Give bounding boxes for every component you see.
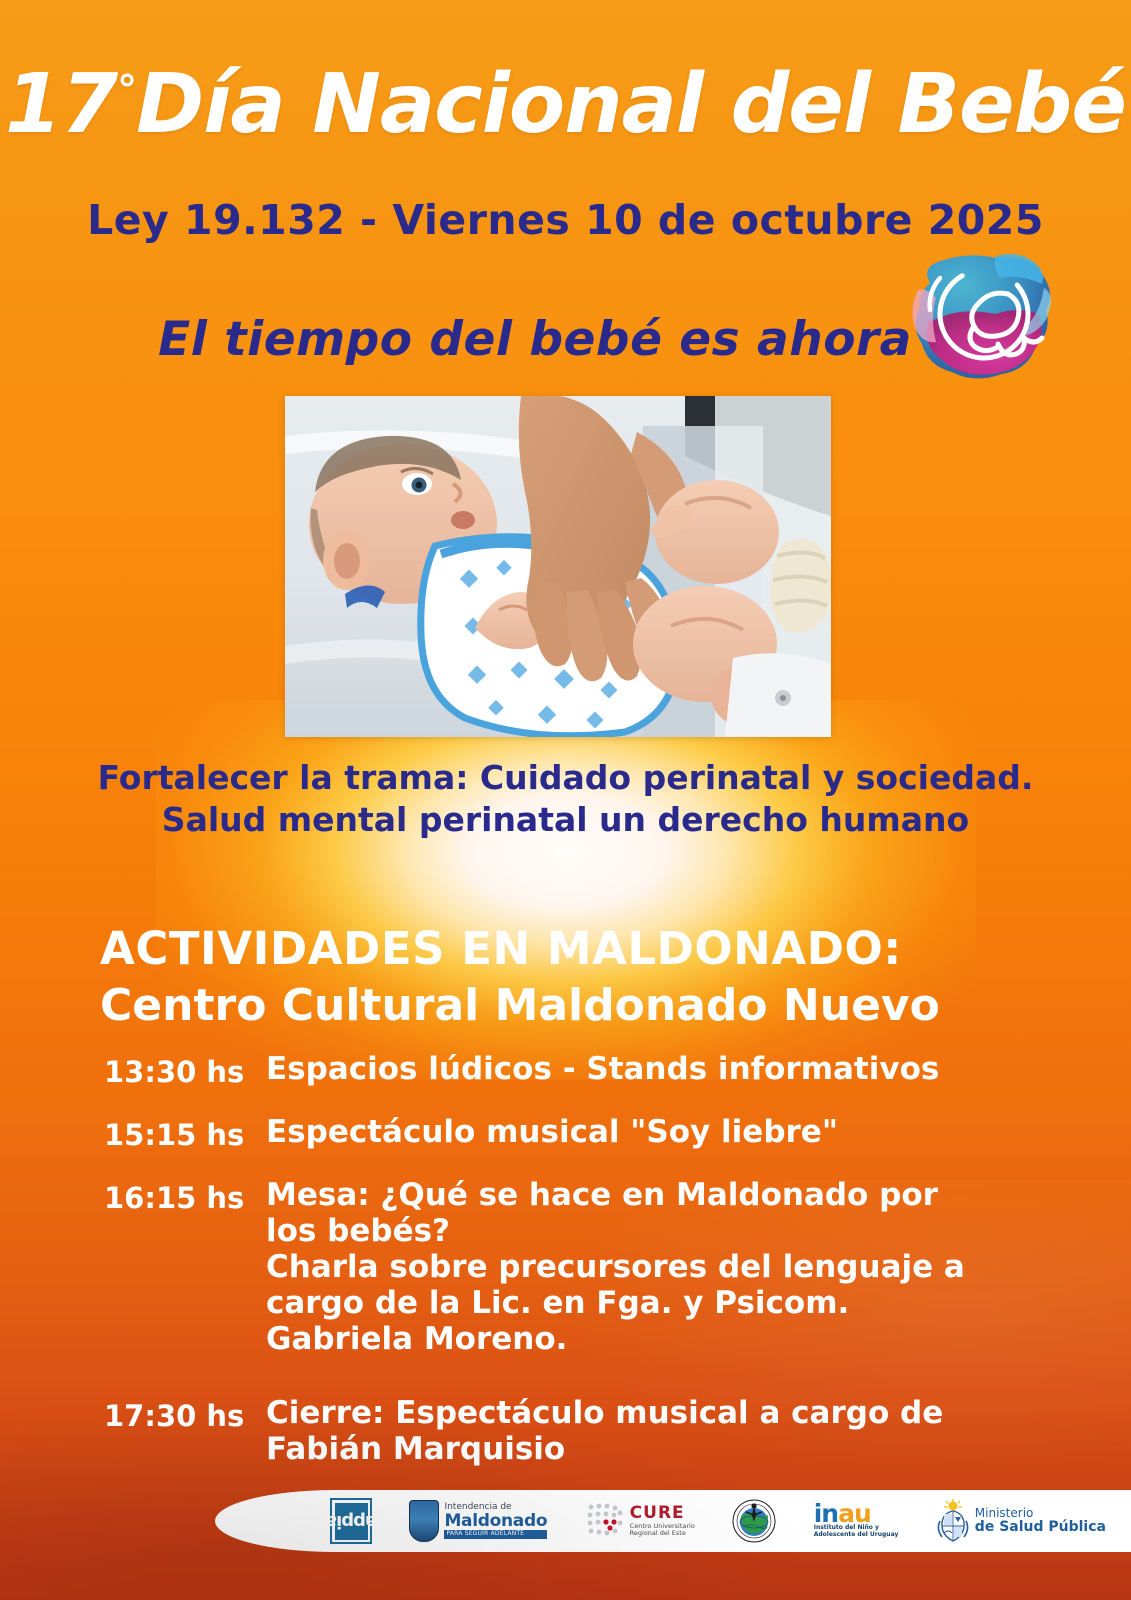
appia-logo-icon: appia <box>330 1498 372 1544</box>
cure-line-1: CURE <box>630 1505 695 1523</box>
tagline: El tiempo del bebé es ahora <box>150 312 920 367</box>
schedule-time: 16:15 hs <box>104 1178 266 1215</box>
schedule-line: los bebés? <box>266 1214 1084 1250</box>
watercolor-baby-logo-icon <box>900 248 1060 393</box>
schedule-line: Cierre: Espectáculo musical a cargo de <box>266 1396 1084 1432</box>
schedule-time: 15:15 hs <box>104 1115 266 1152</box>
msp-logo-text: Ministerio de Salud Pública <box>975 1507 1106 1534</box>
maldonado-line-3: PARA SEGUIR ADELANTE <box>444 1530 547 1538</box>
schedule-line: Gabriela Moreno. <box>266 1322 1084 1358</box>
footer-logos: appia Intendencia de Maldonado PARA SEGU… <box>330 1490 1120 1552</box>
maldonado-line-2: Maldonado <box>444 1513 547 1531</box>
schedule-row: 17:30 hs Cierre: Espectáculo musical a c… <box>104 1396 1084 1468</box>
schedule-description: Espacios lúdicos - Stands informativos <box>266 1052 1084 1088</box>
schedule-row: 13:30 hs Espacios lúdicos - Stands infor… <box>104 1052 1084 1089</box>
inau-logo-text: inau Instituto del Niño y Adolescente de… <box>814 1503 899 1539</box>
page-title-rest: Día Nacional del Bebé <box>136 57 1126 152</box>
uruguay-coat-of-arms-icon <box>936 1499 970 1543</box>
schedule-time: 13:30 hs <box>104 1052 266 1089</box>
logo-appia: appia <box>330 1498 372 1544</box>
baby-examination-photo <box>285 396 831 737</box>
schedule-line: Mesa: ¿Qué se hace en Maldonado por <box>266 1178 1084 1214</box>
activities-heading: ACTIVIDADES EN MALDONADO: <box>100 925 1060 972</box>
cure-dots-icon <box>585 1501 625 1541</box>
activities-venue: Centro Cultural Maldonado Nuevo <box>100 983 1060 1029</box>
appia-logo-wordmark: appia <box>335 1503 368 1540</box>
theme-line-1: Fortalecer la trama: Cuidado perinatal y… <box>60 757 1071 799</box>
theme-statement: Fortalecer la trama: Cuidado perinatal y… <box>60 757 1071 840</box>
schedule-line: Espectáculo musical "Soy liebre" <box>266 1114 838 1150</box>
cure-logo-text: CURE Centro Universitario Regional del E… <box>630 1505 695 1536</box>
logo-inau: inau Instituto del Niño y Adolescente de… <box>814 1503 899 1539</box>
schedule-row: 16:15 hs Mesa: ¿Qué se hace en Maldonado… <box>104 1178 1084 1358</box>
schedule-line: Espacios lúdicos - Stands informativos <box>266 1051 939 1087</box>
schedule-time: 17:30 hs <box>104 1396 266 1433</box>
schedule-description: Mesa: ¿Qué se hace en Maldonado por los … <box>266 1178 1084 1358</box>
logo-cure: CURE Centro Universitario Regional del E… <box>585 1501 695 1541</box>
maldonado-logo-text: Intendencia de Maldonado PARA SEGUIR ADE… <box>444 1503 547 1539</box>
page-title: 17°Día Nacional del Bebé <box>0 64 1131 146</box>
page-title-degree: ° <box>117 68 136 114</box>
schedule-line: Charla sobre precursores del lenguaje a <box>266 1250 1084 1286</box>
schedule-description: Espectáculo musical "Soy liebre" <box>266 1115 1084 1151</box>
cure-line-3: Regional del Este <box>630 1530 695 1537</box>
inau-logo-wordmark: inau <box>814 1503 899 1526</box>
logo-intendencia-maldonado: Intendencia de Maldonado PARA SEGUIR ADE… <box>409 1500 547 1542</box>
logo-centro-mundo <box>732 1499 776 1543</box>
maldonado-coat-of-arms-icon <box>409 1500 439 1542</box>
logo-msp: Ministerio de Salud Pública <box>936 1499 1106 1543</box>
inau-line-2: Adolescente del Uruguay <box>814 1532 899 1539</box>
theme-line-2: Salud mental perinatal un derecho humano <box>60 799 1071 841</box>
schedule-description: Cierre: Espectáculo musical a cargo de F… <box>266 1396 1084 1468</box>
schedule-line: cargo de la Lic. en Fga. y Psicom. <box>266 1286 1084 1322</box>
globe-emblem-icon <box>732 1499 776 1543</box>
schedule-line: Fabián Marquisio <box>266 1432 1084 1468</box>
page-title-number: 17 <box>5 57 117 152</box>
msp-line-2: de Salud Pública <box>975 1520 1106 1535</box>
poster-root: 17°Día Nacional del Bebé Ley 19.132 - Vi… <box>0 0 1131 1600</box>
schedule-list: 13:30 hs Espacios lúdicos - Stands infor… <box>104 1052 1084 1494</box>
subtitle-law-date: Ley 19.132 - Viernes 10 de octubre 2025 <box>0 196 1131 244</box>
schedule-row: 15:15 hs Espectáculo musical "Soy liebre… <box>104 1115 1084 1152</box>
